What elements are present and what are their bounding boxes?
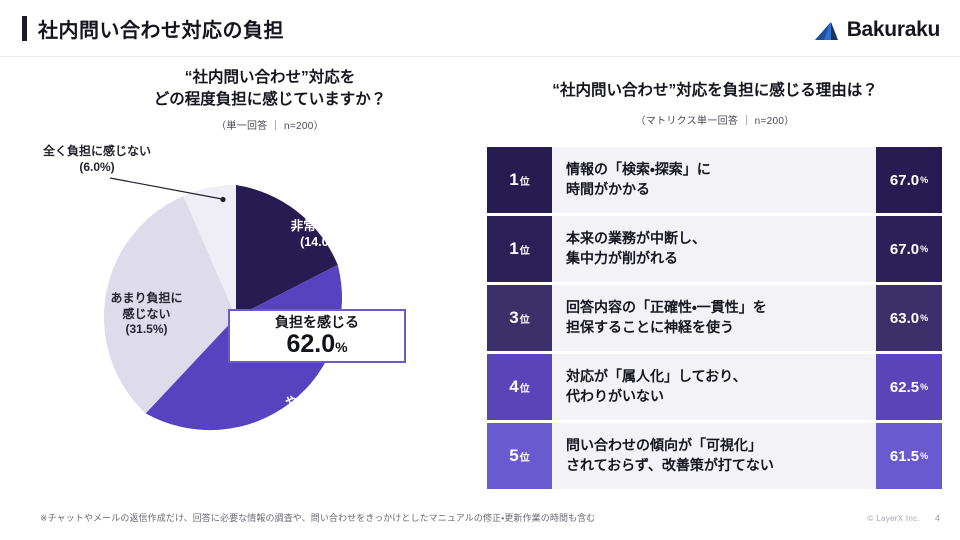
reason-text: 回答内容の「正確性・一貫性」を 担保することに神経を使う xyxy=(552,285,876,351)
rank-number: 1 xyxy=(509,239,518,259)
reasons-ranking-table: 1位 情報の「検索・探索」に 時間がかかる 67.0% 1位 本来の業務が中断し… xyxy=(487,147,942,492)
rank-number: 4 xyxy=(509,377,518,397)
table-row: 4位 対応が「属人化」しており、 代わりがいない 62.5% xyxy=(487,354,942,420)
reason-text: 情報の「検索・探索」に 時間がかかる xyxy=(552,147,876,213)
rank-number: 5 xyxy=(509,446,518,466)
reason-percent: 61.5% xyxy=(876,423,942,489)
rank-badge: 5位 xyxy=(487,423,552,489)
reason-percent: 62.5% xyxy=(876,354,942,420)
table-row: 1位 情報の「検索・探索」に 時間がかかる 67.0% xyxy=(487,147,942,213)
reason-line1: 対応が「属人化」しており、 xyxy=(566,367,747,387)
percent-symbol: % xyxy=(920,175,928,185)
reason-percent: 63.0% xyxy=(876,285,942,351)
percent-symbol: % xyxy=(920,313,928,323)
pie-label-no-burden-line1: 全く負担に感じない xyxy=(22,144,172,160)
reason-percent: 67.0% xyxy=(876,216,942,282)
left-heading-line2: どの程度負担に感じていますか？ xyxy=(60,89,480,111)
reason-line2: 代わりがいない xyxy=(566,387,747,407)
rank-suffix: 位 xyxy=(520,311,530,326)
percent-value: 67.0 xyxy=(890,241,919,258)
title-accent-bar xyxy=(22,16,27,41)
percent-value: 67.0 xyxy=(890,172,919,189)
slide-header: 社内問い合わせ対応の負担 Bakuraku xyxy=(0,0,960,56)
reason-line1: 回答内容の「正確性・一貫性」を xyxy=(566,298,767,318)
header-divider xyxy=(0,56,960,57)
percent-symbol: % xyxy=(920,451,928,461)
reason-line2: 担保することに神経を使う xyxy=(566,318,767,338)
page-number: 4 xyxy=(935,513,940,523)
pie-label-no-burden: 全く負担に感じない (6.0%) xyxy=(22,144,172,175)
rank-badge: 1位 xyxy=(487,147,552,213)
callout-unit: % xyxy=(335,339,347,355)
rank-suffix: 位 xyxy=(520,173,530,188)
reason-line2: 集中力が削がれる xyxy=(566,249,706,269)
reason-text: 問い合わせの傾向が「可視化」 されておらず、改善策が打てない xyxy=(552,423,876,489)
copyright-credit: © LayerX Inc. xyxy=(868,514,920,523)
left-section-subtext: （単一回答 ｜ n=200） xyxy=(60,117,480,132)
rank-suffix: 位 xyxy=(520,242,530,257)
left-section-heading: “社内問い合わせ”対応を どの程度負担に感じていますか？ xyxy=(60,67,480,112)
rank-suffix: 位 xyxy=(520,449,530,464)
rank-badge: 4位 xyxy=(487,354,552,420)
reason-text: 本来の業務が中断し、 集中力が削がれる xyxy=(552,216,876,282)
reason-line1: 情報の「検索・探索」に xyxy=(566,160,711,180)
chart-highlight-callout: 負担を感じる 62.0% xyxy=(228,309,406,363)
callout-value: 62.0% xyxy=(286,331,347,357)
footnote: ※チャットやメールの返信作成だけ、回答に必要な情報の調査や、問い合わせをきっかけ… xyxy=(40,511,595,524)
rank-number: 3 xyxy=(509,308,518,328)
reason-line2: されておらず、改善策が打てない xyxy=(566,456,774,476)
table-row: 3位 回答内容の「正確性・一貫性」を 担保することに神経を使う 63.0% xyxy=(487,285,942,351)
rank-badge: 3位 xyxy=(487,285,552,351)
pie-label-no-burden-line2: (6.0%) xyxy=(22,160,172,176)
reason-line1: 本来の業務が中断し、 xyxy=(566,229,706,249)
page-title: 社内問い合わせ対応の負担 xyxy=(38,14,284,43)
rank-number: 1 xyxy=(509,170,518,190)
table-row: 1位 本来の業務が中断し、 集中力が削がれる 67.0% xyxy=(487,216,942,282)
rank-suffix: 位 xyxy=(520,380,530,395)
right-section-subtext: （マトリクス単一回答 ｜ n=200） xyxy=(480,112,950,127)
rank-badge: 1位 xyxy=(487,216,552,282)
slide-root: 社内問い合わせ対応の負担 Bakuraku “社内問い合わせ”対応を どの程度負… xyxy=(0,0,960,540)
percent-symbol: % xyxy=(920,382,928,392)
triangle-logo-icon xyxy=(814,20,842,41)
percent-value: 62.5 xyxy=(890,379,919,396)
brand-name: Bakuraku xyxy=(847,18,940,42)
table-row: 5位 問い合わせの傾向が「可視化」 されておらず、改善策が打てない 61.5% xyxy=(487,423,942,489)
percent-value: 61.5 xyxy=(890,448,919,465)
callout-label: 負担を感じる xyxy=(275,315,359,330)
brand-logo: Bakuraku xyxy=(814,18,940,42)
reason-line2: 時間がかかる xyxy=(566,180,711,200)
percent-symbol: % xyxy=(920,244,928,254)
right-section-heading: “社内問い合わせ”対応を負担に感じる理由は？ xyxy=(480,80,950,102)
left-heading-line1: “社内問い合わせ”対応を xyxy=(60,67,480,89)
reason-text: 対応が「属人化」しており、 代わりがいない xyxy=(552,354,876,420)
callout-number: 62.0 xyxy=(286,330,335,358)
reason-percent: 67.0% xyxy=(876,147,942,213)
percent-value: 63.0 xyxy=(890,310,919,327)
reason-line1: 問い合わせの傾向が「可視化」 xyxy=(566,436,774,456)
